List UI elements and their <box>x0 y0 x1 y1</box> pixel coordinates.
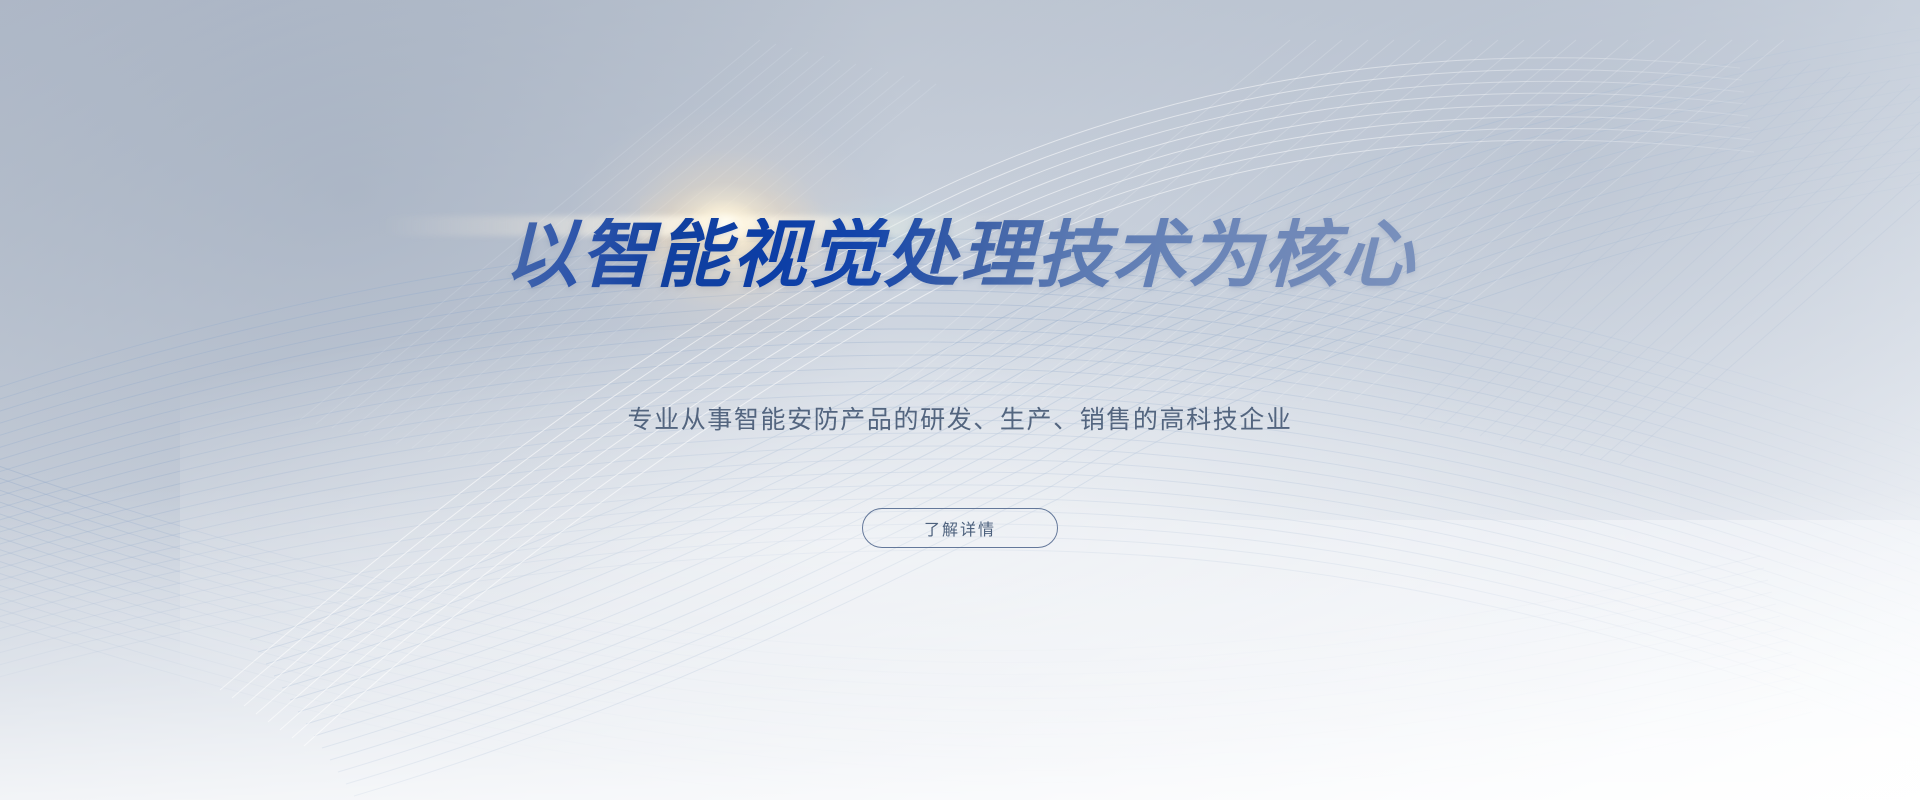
hero-content: 以智能视觉处理技术为核心 专业从事智能安防产品的研发、生产、销售的高科技企业 了… <box>0 0 1920 800</box>
hero-headline: 以智能视觉处理技术为核心 <box>504 218 1416 292</box>
hero-banner: 以智能视觉处理技术为核心 专业从事智能安防产品的研发、生产、销售的高科技企业 了… <box>0 0 1920 800</box>
hero-subtitle: 专业从事智能安防产品的研发、生产、销售的高科技企业 <box>627 400 1292 436</box>
learn-more-button[interactable]: 了解详情 <box>862 508 1058 548</box>
